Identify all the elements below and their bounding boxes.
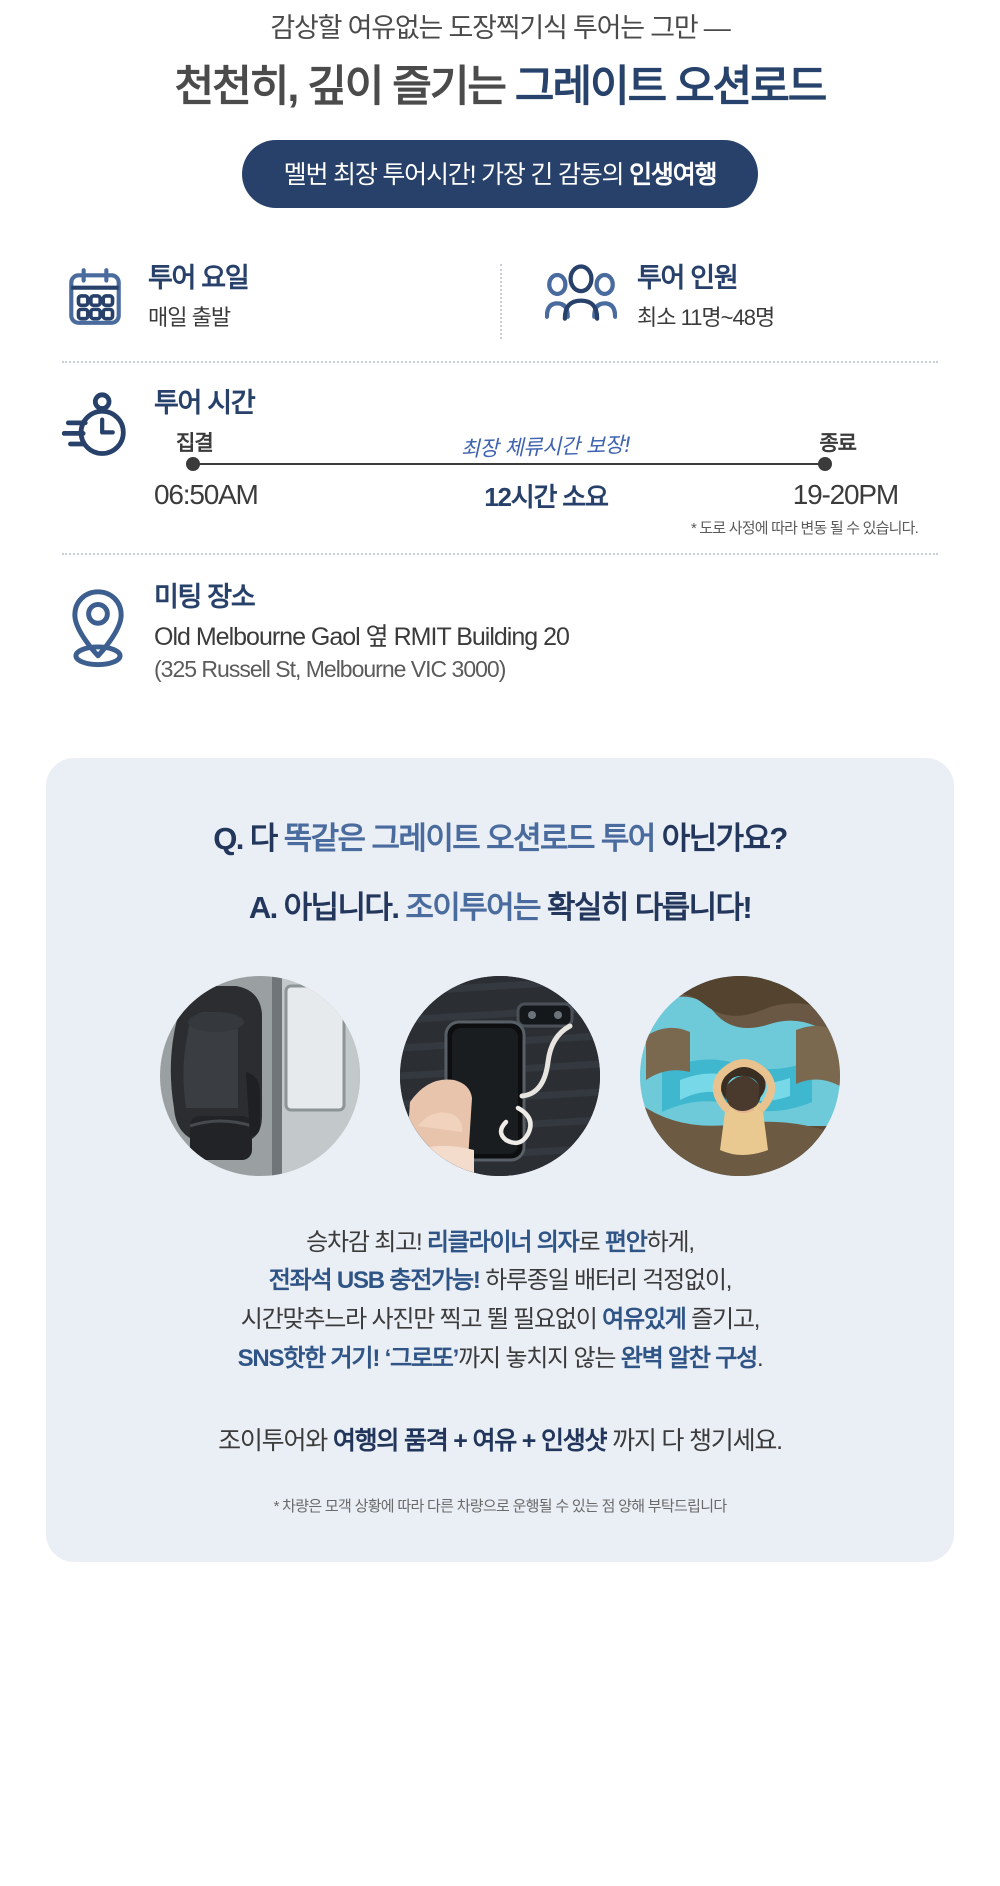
timeline-footnote: * 도로 사정에 따라 변동 될 수 있습니다.: [691, 517, 918, 538]
closing-suffix: 까지 다 챙기세요.: [606, 1427, 782, 1455]
page-header: 감상할 여유없는 도장찍기식 투어는 그만 — 천천히, 깊이 즐기는 그레이트…: [0, 0, 1000, 208]
benefit-1-p2: 로: [579, 1229, 605, 1256]
info-item-tour-people: 투어 인원 최소 11명~48명: [500, 264, 938, 361]
photo-gallery: [46, 976, 954, 1176]
benefit-4-p2: 까지 놓치지 않는: [458, 1345, 621, 1372]
tour-timeline: 집결 종료 최장 체류시간 보장! 12시간 소요 06:50AM 19-20P…: [154, 427, 938, 535]
people-group-icon: [545, 264, 617, 327]
benefit-3-b1: 여유있게: [602, 1306, 686, 1333]
place-content: 미팅 장소 Old Melbourne Gaol 옆 RMIT Building…: [154, 583, 569, 684]
timeline-end-time: 19-20PM: [793, 479, 898, 511]
benefit-1-p3: 하게,: [647, 1229, 694, 1256]
benefit-line-2: 전좌석 USB 충전가능! 하루종일 배터리 걱정없이,: [46, 1262, 954, 1301]
time-content: 투어 시간 집결 종료 최장 체류시간 보장! 12시간 소요 06:50AM …: [154, 389, 938, 535]
vertical-divider: [500, 264, 502, 339]
panel-footnote: * 차량은 모객 상황에 따라 다른 차량으로 운행될 수 있는 점 양해 부탁…: [46, 1495, 954, 1516]
answer-highlight: 조이투어는: [405, 890, 540, 925]
info-sub-people: 최소 11명~48명: [637, 304, 774, 332]
info-item-text: 투어 인원 최소 11명~48명: [637, 264, 774, 331]
answer-prefix: A. 아닙니다.: [249, 890, 406, 925]
badge-container: 멜번 최장 투어시간! 가장 긴 감동의 인생여행: [0, 140, 1000, 208]
closing-statement: 조이투어와 여행의 품격 + 여유 + 인생샷 까지 다 챙기세요.: [46, 1421, 954, 1457]
closing-prefix: 조이투어와: [218, 1427, 333, 1455]
benefit-2-p2: 하루종일 배터리 걱정없이,: [480, 1267, 732, 1294]
benefit-list: 승차감 최고! 리클라이너 의자로 편안하게, 전좌석 USB 충전가능! 하루…: [46, 1224, 954, 1380]
timeline-start-label: 집결: [176, 427, 213, 457]
photo-grotto-traveler: [640, 976, 840, 1176]
benefit-4-b1: SNS핫한 거기! ‘그로또’: [238, 1345, 459, 1372]
map-pin-icon: [62, 583, 134, 674]
info-sub-days: 매일 출발: [148, 304, 248, 332]
page-title: 천천히, 깊이 즐기는 그레이트 오션로드: [0, 62, 1000, 114]
calendar-icon: [62, 264, 128, 335]
info-title-days: 투어 요일: [148, 264, 248, 294]
timeline-handwritten-note: 최장 체류시간 보장!: [460, 428, 632, 462]
info-item-tour-time: 투어 시간 집결 종료 최장 체류시간 보장! 12시간 소요 06:50AM …: [62, 363, 938, 553]
closing-highlight: 여행의 품격 + 여유 + 인생샷: [333, 1427, 607, 1455]
benefit-4-b2: 완벽 알찬 구성: [621, 1345, 757, 1372]
qa-answer: A. 아닙니다. 조이투어는 확실히 다릅니다!: [46, 889, 954, 928]
timeline-end-label: 종료: [819, 427, 856, 457]
eyebrow-text: 감상할 여유없는 도장찍기식 투어는 그만 —: [0, 10, 1000, 46]
stopwatch-icon: [62, 389, 136, 535]
question-prefix: Q. 다: [213, 821, 283, 856]
answer-suffix: 확실히 다릅니다!: [540, 890, 751, 925]
benefit-1-b2: 편안: [605, 1229, 647, 1256]
timeline-start-time: 06:50AM: [154, 479, 258, 511]
info-item-text: 투어 요일 매일 출발: [148, 264, 248, 331]
timeline-duration: 12시간 소요: [484, 477, 607, 514]
info-title-people: 투어 인원: [637, 264, 774, 294]
benefit-line-4: SNS핫한 거기! ‘그로또’까지 놓치지 않는 완벽 알찬 구성.: [46, 1340, 954, 1379]
headline-part-1: 천천히, 깊이 즐기는: [175, 63, 515, 111]
headline-part-2-accent: 그레이트 오션로드: [515, 63, 825, 111]
timeline-dot-end: [818, 457, 832, 471]
timeline-dot-start: [186, 457, 200, 471]
benefit-line-3: 시간맞추느라 사진만 찍고 뛸 필요없이 여유있게 즐기고,: [46, 1301, 954, 1340]
question-suffix: 아닌가요?: [655, 821, 787, 856]
tour-info-block: 투어 요일 매일 출발 투어 인원 최소 11명~48명: [62, 264, 938, 684]
question-highlight: 똑같은 그레이트 오션로드 투어: [284, 821, 655, 856]
info-title-time: 투어 시간: [154, 389, 938, 419]
status-badge: 멜번 최장 투어시간! 가장 긴 감동의 인생여행: [242, 140, 759, 208]
badge-text-strong: 인생여행: [629, 161, 716, 189]
badge-text: 멜번 최장 투어시간! 가장 긴 감동의: [284, 161, 629, 189]
photo-usb-charging: [400, 976, 600, 1176]
photo-reclining-seat: [160, 976, 360, 1176]
benefit-4-p3: .: [757, 1345, 762, 1372]
benefit-3-p2: 즐기고,: [686, 1306, 760, 1333]
address-line-2: (325 Russell St, Melbourne VIC 3000): [154, 656, 569, 684]
info-row-days-people: 투어 요일 매일 출발 투어 인원 최소 11명~48명: [62, 264, 938, 361]
address-line-1: Old Melbourne Gaol 옆 RMIT Building 20: [154, 622, 569, 652]
info-title-place: 미팅 장소: [154, 583, 569, 613]
info-item-meeting-place: 미팅 장소 Old Melbourne Gaol 옆 RMIT Building…: [62, 555, 938, 684]
qa-panel: Q. 다 똑같은 그레이트 오션로드 투어 아닌가요? A. 아닙니다. 조이투…: [46, 758, 954, 1562]
qa-question: Q. 다 똑같은 그레이트 오션로드 투어 아닌가요?: [46, 820, 954, 859]
info-item-tour-days: 투어 요일 매일 출발: [62, 264, 500, 361]
benefit-1-p1: 승차감 최고!: [306, 1229, 427, 1256]
benefit-2-b1: 전좌석 USB 충전가능!: [269, 1267, 480, 1294]
timeline-bar: [192, 463, 826, 465]
benefit-3-p1: 시간맞추느라 사진만 찍고 뛸 필요없이: [241, 1306, 602, 1333]
benefit-1-b1: 리클라이너 의자: [427, 1229, 579, 1256]
benefit-line-1: 승차감 최고! 리클라이너 의자로 편안하게,: [46, 1224, 954, 1263]
